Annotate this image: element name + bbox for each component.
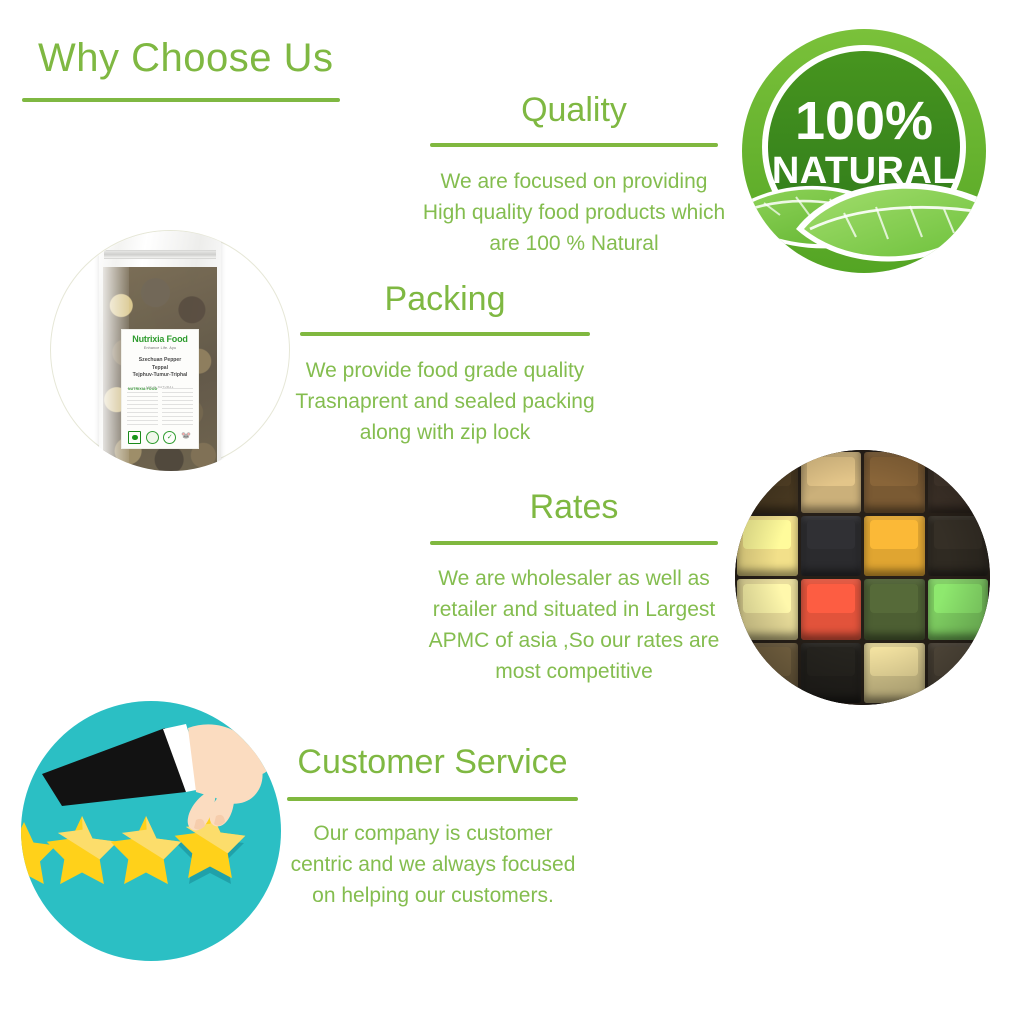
pouch-certification-icons: ✓ 🐭: [126, 431, 194, 444]
pouch-product-line-1: Szechuan Pepper: [125, 357, 195, 365]
section-heading-rates: Rates: [430, 489, 718, 526]
section-body-customer-service: Our company is customer centric and we a…: [288, 818, 578, 911]
pouch-product-name: Szechuan Pepper Teppal Tejphuv-Tumur-Tri…: [125, 357, 195, 380]
section-divider-customer-service: [287, 797, 578, 801]
certification-ring-icon: [146, 431, 159, 444]
natural-badge-percent: 100%: [795, 91, 933, 151]
section-heading-quality: Quality: [430, 92, 718, 129]
section-body-rates: We are wholesaler as well as retailer an…: [418, 563, 730, 687]
section-divider-packing: [300, 332, 590, 336]
pouch-ziplock: [104, 250, 216, 259]
pouch-brand: Nutrixia Food: [125, 335, 195, 344]
section-heading-packing: Packing: [300, 281, 590, 318]
pouch-label: Nutrixia Food Enhance Life. Ayu Szechuan…: [121, 329, 199, 449]
section-divider-rates: [430, 541, 718, 545]
product-package-image: Nutrixia Food Enhance Life. Ayu Szechuan…: [50, 230, 290, 470]
section-body-quality: We are focused on providing High quality…: [418, 166, 730, 259]
product-image-clip: Nutrixia Food Enhance Life. Ayu Szechuan…: [51, 231, 291, 471]
pouch-fineprint-right: [162, 388, 193, 428]
why-choose-us-infographic: Why Choose Us: [0, 0, 1024, 1024]
animal-icon: 🐭: [181, 432, 192, 443]
page-title: Why Choose Us: [38, 36, 333, 80]
veg-mark-icon: [128, 431, 141, 444]
section-divider-quality: [430, 143, 718, 147]
spice-market-image: [735, 450, 990, 705]
pouch-tagline: Enhance Life. Ayu: [125, 346, 195, 350]
natural-badge-word: NATURAL: [772, 150, 956, 192]
natural-badge: 100% NATURAL: [740, 27, 988, 275]
spice-image-vignette: [735, 450, 990, 705]
section-heading-customer-service: Customer Service: [287, 744, 578, 781]
product-pouch: Nutrixia Food Enhance Life. Ayu Szechuan…: [99, 231, 221, 471]
leaf-icon: ✓: [163, 431, 176, 444]
pouch-product-line-3: Tejphuv-Tumur-Triphal: [125, 372, 195, 380]
page-title-underline: [22, 98, 340, 102]
section-body-packing: We provide food grade quality Trasnapren…: [288, 355, 602, 448]
pouch-product-line-2: Teppal: [125, 365, 195, 373]
customer-service-illustration: [20, 700, 282, 962]
pouch-fineprint-left: [127, 388, 158, 428]
